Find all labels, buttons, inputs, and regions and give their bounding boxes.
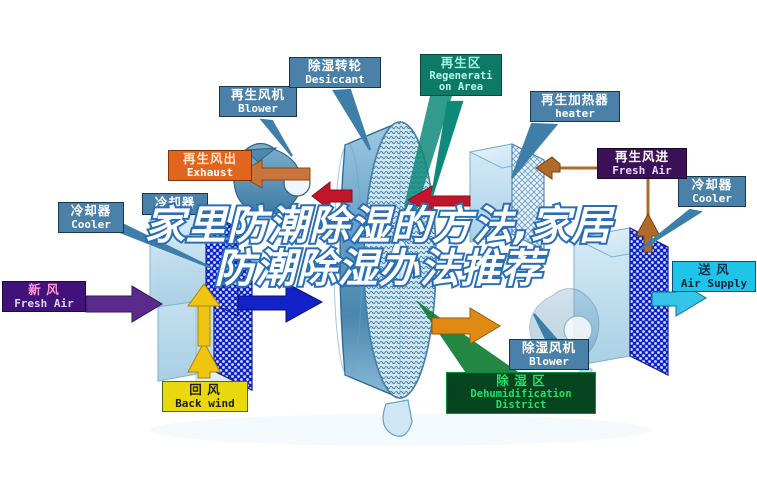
label-fresh-air-en: Fresh Air [8,298,80,310]
label-regen-fresh-air-en: Fresh Air [603,165,681,177]
label-regen-area-en: Regenerati on Area [426,71,496,94]
label-regen-blower-cn: 再生风机 [225,89,291,103]
label-regen-heater-cn: 再生加热器 [536,94,614,108]
label-dehum-blower: 除湿风机 Blower [509,339,589,370]
label-back-wind: 回 风 Back wind [162,381,248,412]
label-regeneration-area: 再生区 Regenerati on Area [420,54,502,96]
overlay-title-line1: 家里防潮除湿的方法,家居 [0,204,757,249]
label-back-wind-en: Back wind [168,398,242,410]
label-dehum-district-en: Dehumidification District [452,389,590,412]
label-regen-heater: 再生加热器 heater [530,91,620,122]
label-desiccant-cn: 除湿转轮 [295,60,375,74]
overlay-title-line2: 防潮除湿办法推荐 [0,247,757,292]
label-regen-blower-en: Blower [225,103,291,115]
label-back-wind-cn: 回 风 [168,384,242,398]
label-cooler-right-cn: 冷却器 [684,179,740,193]
label-dehum-district-cn: 除 湿 区 [452,375,590,389]
label-regen-heater-en: heater [536,108,614,120]
rotor-drive-support [383,400,412,436]
overlay-title: 家里防潮除湿的方法,家居 防潮除湿办法推荐 [0,204,757,292]
label-regen-fresh-air-cn: 再生风进 [603,151,681,165]
label-regen-fresh-air: 再生风进 Fresh Air [597,148,687,179]
label-exhaust-en: Exhaust [174,167,246,179]
label-regen-blower: 再生风机 Blower [219,86,297,117]
label-cooler-right-en: Cooler [684,193,740,205]
label-cooler-right: 冷却器 Cooler [678,176,746,207]
diagram-canvas: 再生风机 Blower 除湿转轮 Desiccant 再生区 Regenerat… [0,0,757,488]
label-desiccant-en: Desiccant [295,74,375,86]
label-exhaust: 再生风出 Exhaust [168,150,252,181]
label-dehumidification-district: 除 湿 区 Dehumidification District [446,372,596,414]
label-dehum-blower-cn: 除湿风机 [515,342,583,356]
label-exhaust-cn: 再生风出 [174,153,246,167]
label-desiccant-rotor: 除湿转轮 Desiccant [289,57,381,88]
label-regen-area-cn: 再生区 [426,57,496,71]
label-dehum-blower-en: Blower [515,356,583,368]
